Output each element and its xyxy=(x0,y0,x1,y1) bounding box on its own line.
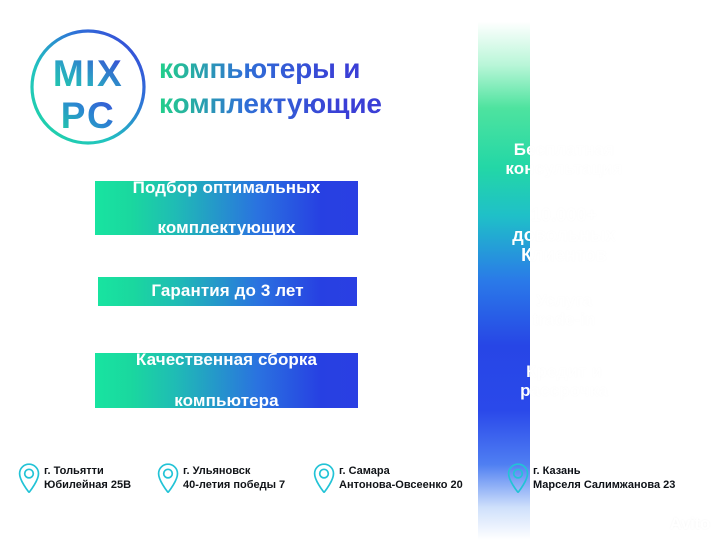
avito-watermark: Avito xyxy=(649,515,710,532)
panel-benefit-clients-count: 10.000+ xyxy=(531,205,597,225)
advertisement-banner: MIX PC компьютеры и комплектующие Подбор… xyxy=(0,0,720,540)
headline-line-1: компьютеры и xyxy=(159,53,360,84)
location-ulyanovsk-city: г. Ульяновск xyxy=(183,465,285,479)
location-kazan-street: Марселя Салимжанова 23 xyxy=(533,479,675,493)
map-pin-icon xyxy=(506,462,530,496)
panel-benefit-consultation-line-2: консультация xyxy=(505,159,622,178)
location-samara-street: Антонова-Овсеенко 20 xyxy=(339,479,463,493)
map-pin-icon xyxy=(156,462,180,496)
svg-text:PC: PC xyxy=(61,95,115,136)
location-ulyanovsk-street: 40-летия победы 7 xyxy=(183,479,285,493)
svg-text:MIX: MIX xyxy=(53,53,123,94)
feature-bar-1-line-2: комплектующих xyxy=(127,218,327,238)
feature-bar-2: Гарантия до 3 лет xyxy=(98,277,357,306)
avito-wordmark: Avito xyxy=(670,515,710,532)
feature-bar-3-line-2: компьютера xyxy=(130,391,323,411)
location-samara: г. Самара Антонова-Овсеенко 20 xyxy=(312,462,463,496)
location-kazan-city: г. Казань xyxy=(533,465,675,479)
map-pin-icon xyxy=(17,462,41,496)
brand-logo: MIX PC xyxy=(24,24,152,150)
panel-benefit-credit-line-2: рассрочка xyxy=(520,381,608,400)
location-tolyatti-street: Юбилейная 25В xyxy=(44,479,131,493)
headline: компьютеры и комплектующие xyxy=(159,52,489,121)
feature-bar-2-line-1: Гарантия до 3 лет xyxy=(145,281,309,301)
panel-benefit-clients-line-2: довольных xyxy=(512,225,615,245)
location-tolyatti-city: г. Тольятти xyxy=(44,465,131,479)
panel-benefit-consultation-line-1: Бесплатная xyxy=(514,140,614,159)
panel-benefit-clients-line-3: Клиентов xyxy=(521,245,607,265)
feature-bar-1: Подбор оптимальных комплектующих xyxy=(95,181,358,235)
panel-benefit-tradein-line-1: Услуга xyxy=(536,291,592,310)
location-ulyanovsk: г. Ульяновск 40-летия победы 7 xyxy=(156,462,285,496)
feature-bar-3: Качественная сборка компьютера xyxy=(95,353,358,408)
panel-benefit-credit: Кредит и рассрочка xyxy=(444,362,684,400)
location-tolyatti: г. Тольятти Юбилейная 25В xyxy=(17,462,131,496)
avito-logo-icon xyxy=(649,515,666,532)
panel-benefit-consultation: Бесплатная консультация xyxy=(444,140,684,178)
headline-line-2: комплектующие xyxy=(159,87,489,122)
panel-benefit-tradein-line-2: trade-in xyxy=(532,310,595,329)
panel-benefit-clients: 10.000+ довольных Клиентов xyxy=(444,205,684,265)
feature-bar-3-line-1: Качественная сборка xyxy=(130,350,323,370)
panel-benefit-tradein: Услуга trade-in xyxy=(444,291,684,329)
location-kazan: г. Казань Марселя Салимжанова 23 xyxy=(506,462,675,496)
map-pin-icon xyxy=(312,462,336,496)
panel-benefit-credit-line-1: Кредит и xyxy=(526,362,602,381)
feature-bar-1-line-1: Подбор оптимальных xyxy=(127,178,327,198)
location-samara-city: г. Самара xyxy=(339,465,463,479)
